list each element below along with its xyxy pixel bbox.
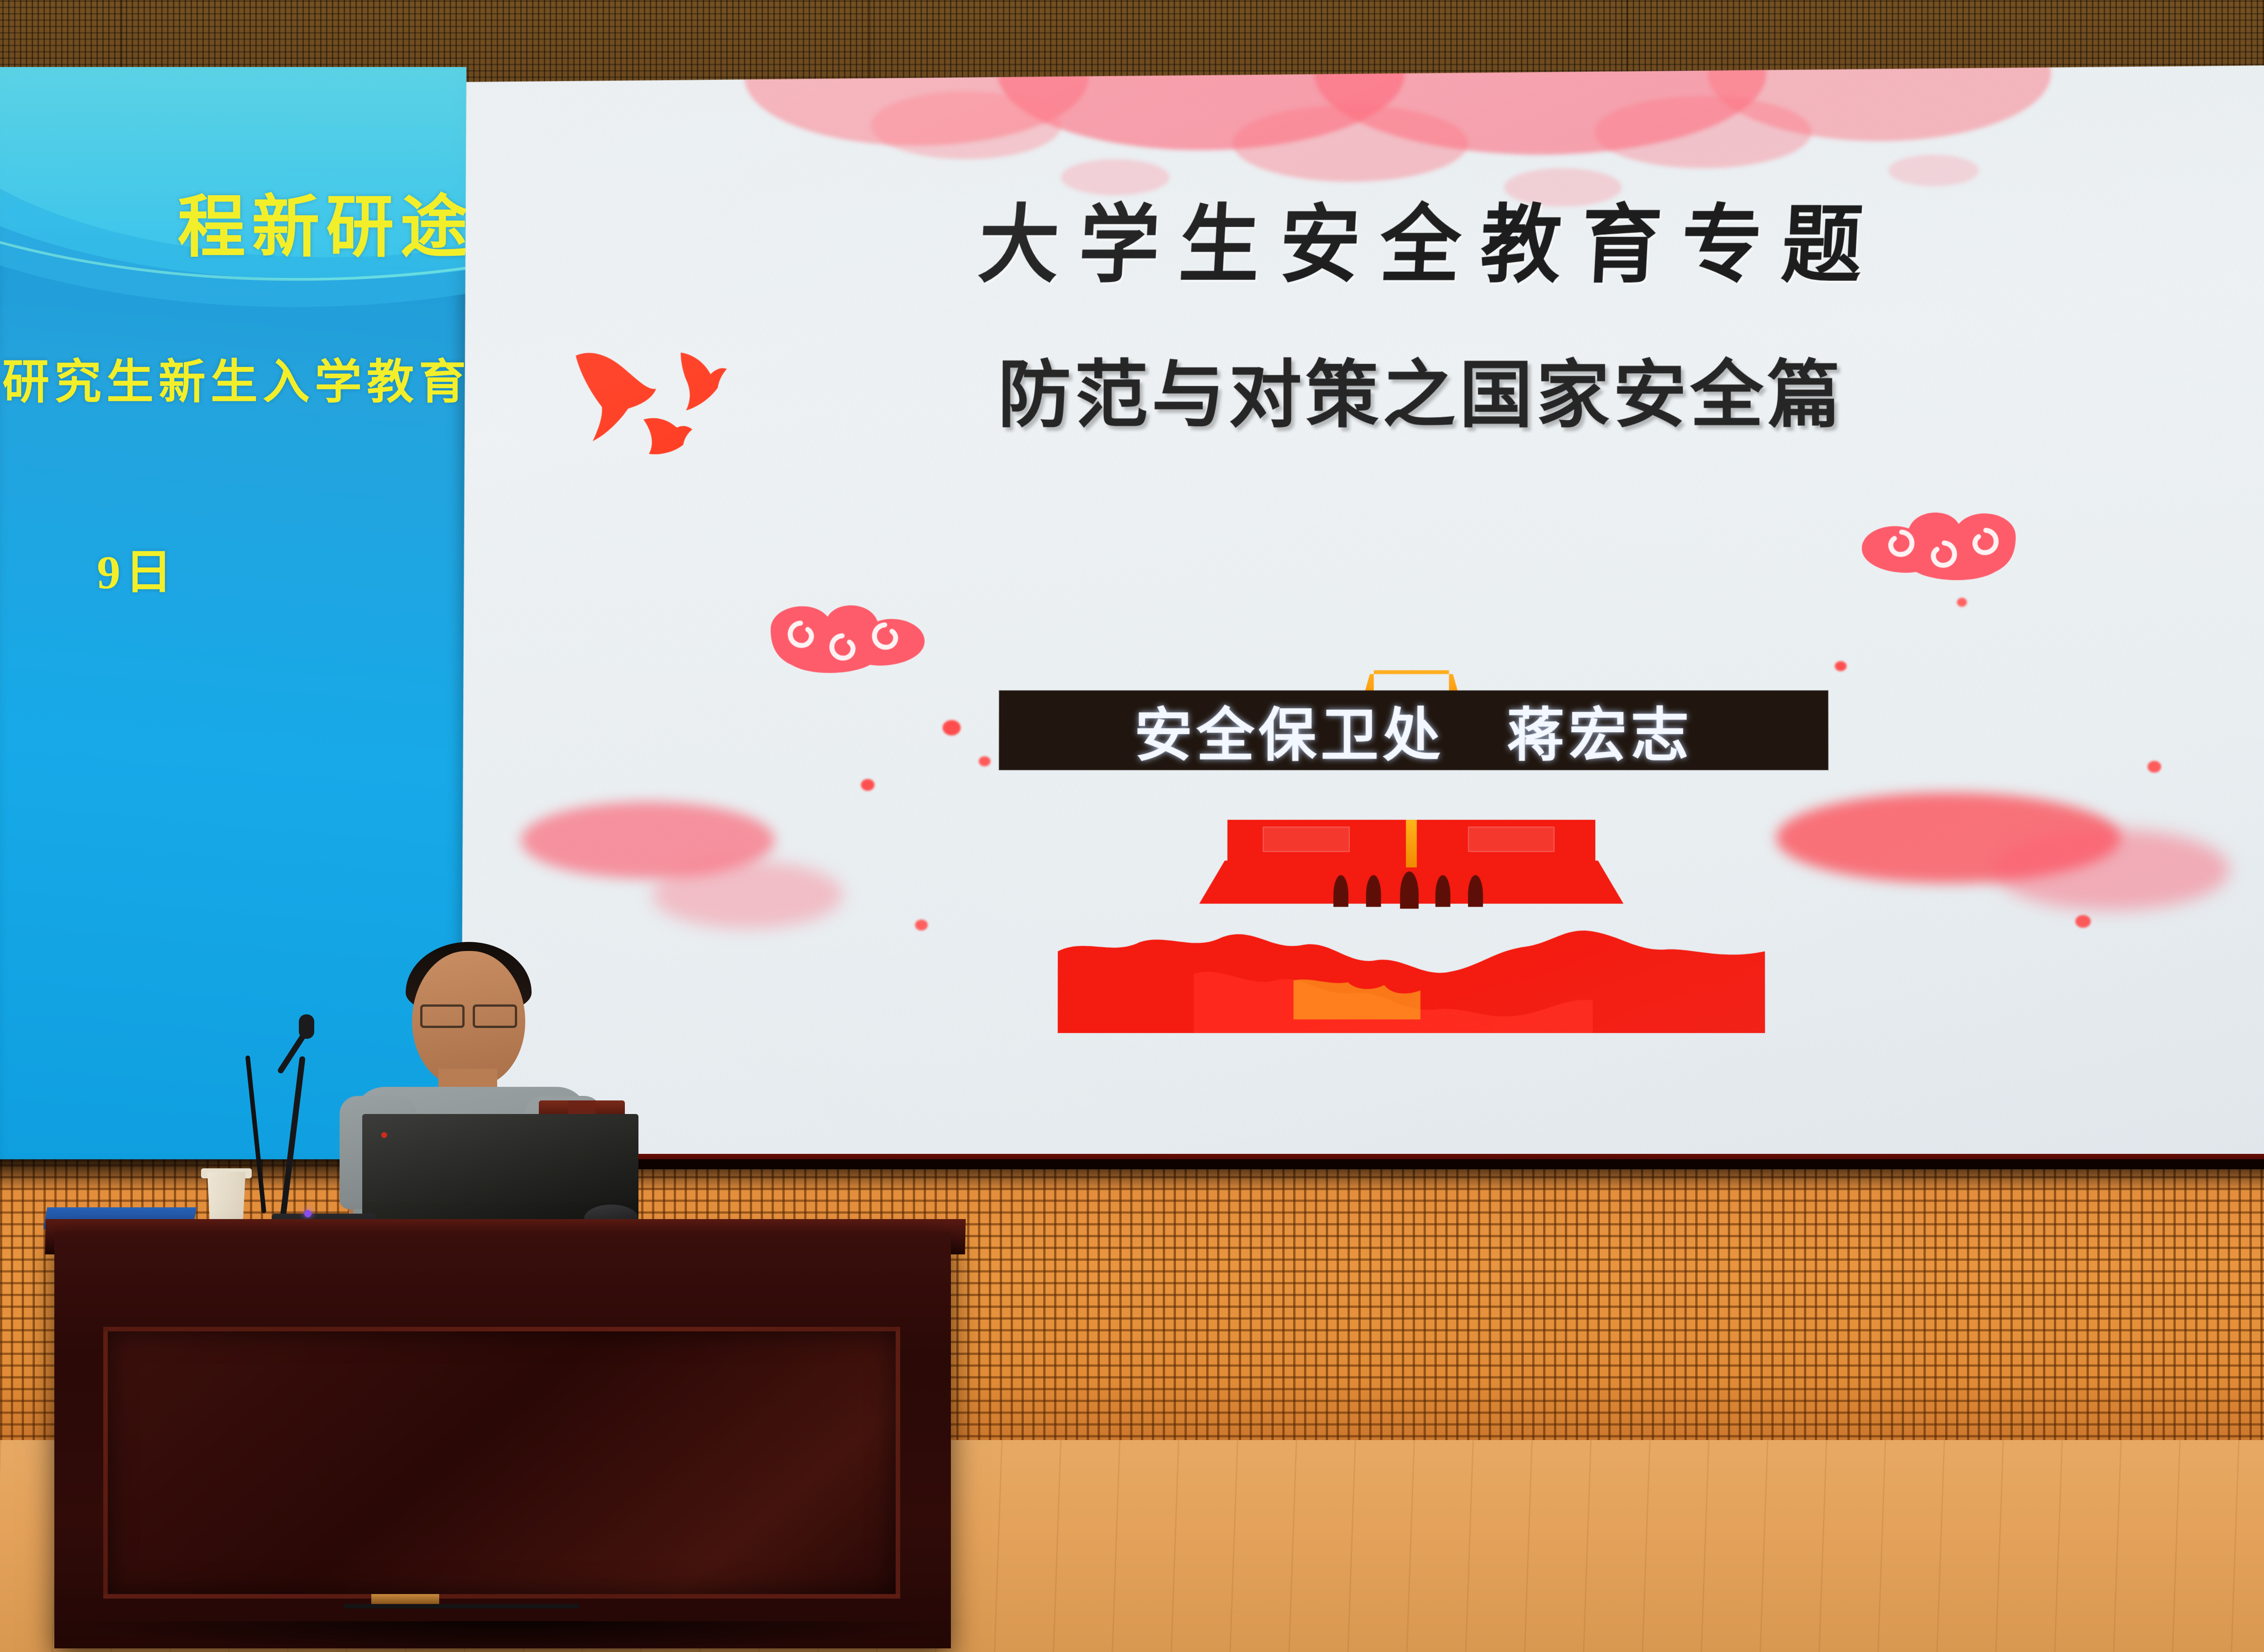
ink-speck: [861, 779, 874, 791]
mic-status-led: [304, 1210, 312, 1217]
auspicious-cloud-icon: [743, 580, 934, 684]
ink-speck: [943, 720, 961, 735]
ink-speck: [1835, 661, 1847, 671]
presenter-label: 安全保卫处 蒋宏志: [999, 688, 1828, 772]
eyeglasses-icon: [420, 1004, 517, 1024]
lecture-hall-scene: 程新研途 研究生新生入学教育 9日 大学生安全教育专题: [0, 0, 2264, 1652]
laptop-logo-icon: [381, 1132, 387, 1138]
auspicious-cloud-icon: [1853, 487, 2043, 591]
ink-speck: [915, 920, 928, 931]
ink-speck: [1957, 598, 1967, 607]
banner-left-date: 9日: [97, 533, 177, 602]
red-wash: [1994, 829, 2230, 910]
mic-capsule: [299, 1014, 314, 1039]
red-wash: [652, 860, 843, 928]
projection-screen: 大学生安全教育专题 防范与对策之国家安全篇: [461, 64, 2264, 1169]
banner-left-subtitle: 研究生新生入学教育: [2, 343, 466, 412]
slide-title: 大学生安全教育专题: [461, 176, 2264, 299]
desk-front-panel: [103, 1327, 900, 1599]
ink-speck: [979, 756, 991, 766]
desk-shadow: [45, 1621, 969, 1652]
floor-cable: [344, 1604, 580, 1609]
banner-left-title: 程新研途: [177, 172, 466, 270]
ink-speck: [2075, 915, 2091, 928]
ink-speck: [2148, 761, 2161, 773]
presenter-bar: 安全保卫处 蒋宏志: [999, 691, 1828, 770]
slide-subtitle: 防范与对策之国家安全篇: [463, 336, 2264, 442]
